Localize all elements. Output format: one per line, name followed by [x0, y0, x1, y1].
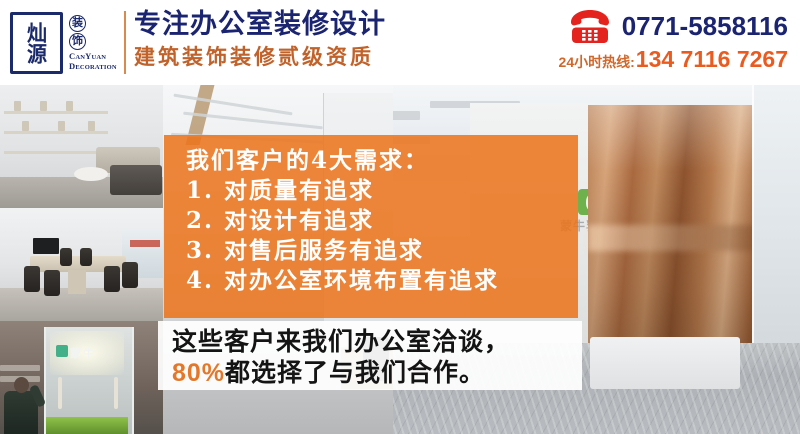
need-item-4: 4. 对办公室环境布置有追求 [186, 266, 578, 296]
header-bar: 灿 源 装 饰 CANYUAN DECORATION 专注办公室装修设计 建筑装… [0, 0, 800, 85]
headline: 专注办公室装修设计 [134, 8, 386, 40]
entrance-brand-text: 蒙牛 [70, 345, 96, 361]
reception-desk [590, 337, 740, 389]
logo-wordmark: 装 饰 CANYUAN DECORATION [69, 12, 117, 74]
shelf-object [58, 121, 65, 131]
logo-english-line2: DECORATION [69, 62, 117, 72]
customer-needs-panel: 我们客户的4大需求： 1. 对质量有追求 2. 对设计有追求 3. 对售后服务有… [164, 135, 578, 318]
showroom-photo [0, 85, 163, 208]
contact-block: 0771-5858116 24小时热线: 134 7116 7267 [559, 7, 788, 73]
table-leg [68, 270, 86, 294]
conversion-rate-highlight: 80% [172, 359, 225, 387]
logo-mark-glyphs: 装 饰 [69, 15, 86, 51]
phone-main-row: 0771-5858116 [559, 7, 788, 45]
door-handle [58, 377, 62, 409]
header-slogan-block: 专注办公室装修设计 建筑装饰装修贰级资质 [134, 8, 386, 73]
hotline-row: 24小时热线: 134 7116 7267 [559, 46, 788, 73]
mark-char-1: 装 [69, 15, 86, 32]
phone-number-primary: 0771-5858116 [622, 11, 788, 41]
conference-chair [60, 248, 72, 266]
advertisement-poster: 灿 源 装 饰 CANYUAN DECORATION 专注办公室装修设计 建筑装… [0, 0, 800, 434]
wall-display [33, 238, 59, 254]
statement-line-2-rest: 都选择了与我们合作。 [225, 359, 485, 387]
logo-english-name: CANYUAN DECORATION [69, 52, 117, 72]
left-photo-strip: 蒙牛 [0, 85, 163, 434]
conversion-statement-panel: 这些客户来我们办公室洽谈， 80%都选择了与我们合作。 [158, 321, 582, 390]
telephone-icon [567, 9, 613, 43]
coffee-table [74, 167, 108, 181]
mark-char-2: 饰 [69, 33, 86, 50]
display-shelf [4, 151, 108, 154]
mengniu-logo-icon [56, 345, 68, 357]
display-shelf [4, 131, 108, 134]
needs-panel-title: 我们客户的4大需求： [186, 145, 578, 176]
shelf-object [14, 101, 21, 111]
statement-line-1: 这些客户来我们办公室洽谈， [172, 327, 582, 358]
dark-sofa [110, 165, 162, 195]
shelf-object [66, 101, 73, 111]
photo-collage: 蒙牛 蒙牛乳业（集团）股份有限公司 [0, 85, 800, 434]
seal-char-2: 源 [27, 43, 46, 64]
shelf-object [22, 121, 29, 131]
conference-chair [80, 248, 92, 266]
need-item-1: 1. 对质量有追求 [186, 176, 578, 206]
need-item-2: 2. 对设计有追求 [186, 206, 578, 236]
copper-reflection-band [588, 225, 758, 251]
conference-chair [44, 270, 60, 296]
hotline-number: 134 7116 7267 [636, 46, 788, 73]
grass-mat [46, 417, 128, 434]
conference-chair [122, 262, 138, 288]
statement-line-2: 80%都选择了与我们合作。 [172, 358, 582, 389]
company-logo: 灿 源 装 饰 CANYUAN DECORATION [10, 9, 118, 77]
conference-chair [24, 266, 40, 292]
subheadline: 建筑装饰装修贰级资质 [134, 43, 386, 73]
person-head [14, 377, 29, 393]
seal-char-1: 灿 [27, 22, 46, 43]
glass-partition [752, 85, 800, 385]
conference-room-photo [0, 208, 163, 321]
door-handle [114, 377, 118, 409]
conference-chair [104, 266, 120, 292]
entrance-photo: 蒙牛 [0, 321, 163, 434]
display-shelf [4, 111, 108, 114]
seal-logo-icon: 灿 源 [10, 12, 63, 74]
shelf-object [88, 121, 95, 131]
window-signage [130, 240, 160, 247]
need-item-3: 3. 对售后服务有追求 [186, 236, 578, 266]
shelf-object [40, 101, 47, 111]
header-divider [124, 11, 126, 74]
logo-english-line1: CANYUAN [69, 52, 117, 62]
hotline-label: 24小时热线: [559, 52, 635, 72]
